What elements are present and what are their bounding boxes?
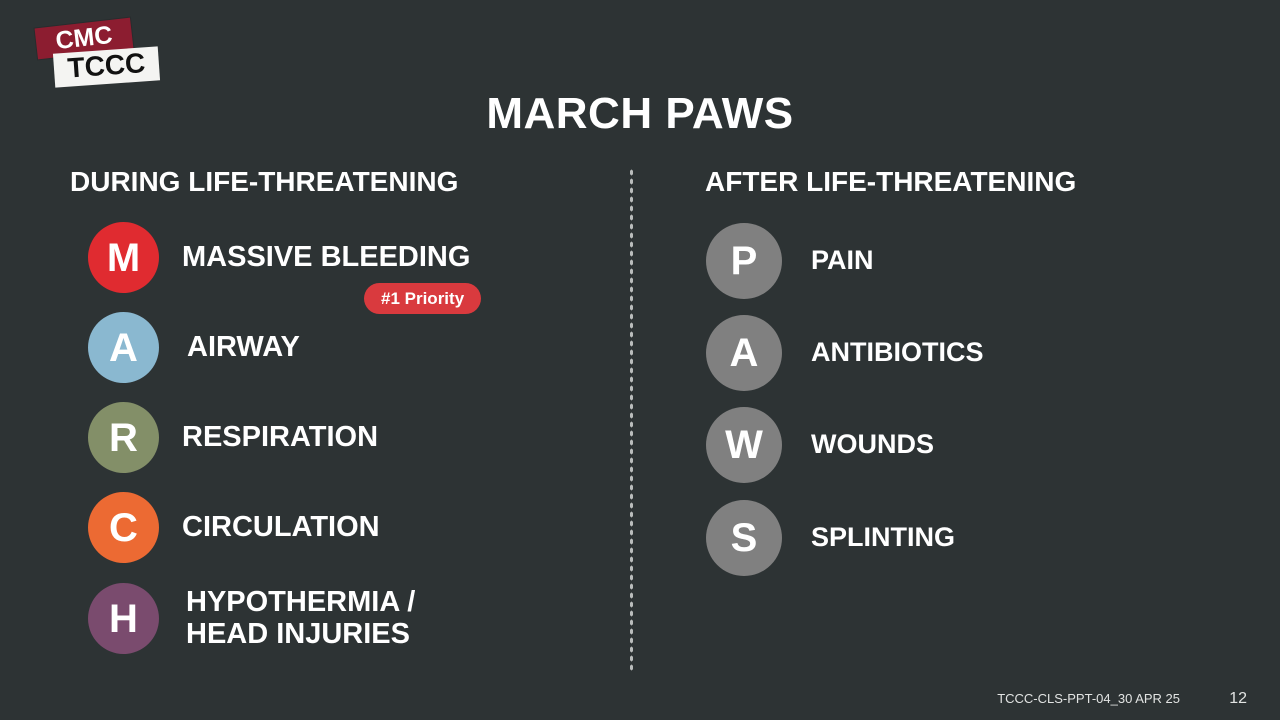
letter-bubble-r-text: R xyxy=(109,418,138,458)
letter-bubble-w: W xyxy=(706,407,782,483)
list-item-label: CIRCULATION xyxy=(182,512,380,543)
letter-bubble-p-text: P xyxy=(731,241,758,281)
list-item-label: RESPIRATION xyxy=(182,422,378,453)
list-item-respiration: R RESPIRATION xyxy=(88,402,378,473)
list-item-label: WOUNDS xyxy=(811,430,934,459)
list-item-label: SPLINTING xyxy=(811,523,955,552)
left-column-header: DURING LIFE-THREATENING xyxy=(70,168,458,196)
list-item-label: AIRWAY xyxy=(187,332,300,363)
list-item-label: HYPOTHERMIA / HEAD INJURIES xyxy=(186,587,415,650)
priority-badge: #1 Priority xyxy=(364,283,481,314)
letter-bubble-m: M xyxy=(88,222,159,293)
priority-badge-text: #1 Priority xyxy=(381,290,464,307)
slide-canvas: CMC TCCC MARCH PAWS DURING LIFE-THREATEN… xyxy=(0,0,1280,720)
right-column-header: AFTER LIFE-THREATENING xyxy=(705,168,1076,196)
letter-bubble-p: P xyxy=(706,223,782,299)
letter-bubble-s-text: S xyxy=(731,518,758,558)
footer-document-code: TCCC-CLS-PPT-04_30 APR 25 xyxy=(997,692,1180,705)
list-item-antibiotics: A ANTIBIOTICS xyxy=(706,315,984,391)
list-item-label: PAIN xyxy=(811,246,874,275)
letter-bubble-h-text: H xyxy=(109,599,138,639)
letter-bubble-m-text: M xyxy=(107,238,140,278)
list-item-hypothermia-head-injuries: H HYPOTHERMIA / HEAD INJURIES xyxy=(88,583,415,654)
column-divider xyxy=(629,168,634,672)
letter-bubble-w-text: W xyxy=(725,425,763,465)
list-item-wounds: W WOUNDS xyxy=(706,407,934,483)
logo-tccc-banner: TCCC xyxy=(53,46,160,87)
list-item-pain: P PAIN xyxy=(706,223,874,299)
letter-bubble-s: S xyxy=(706,500,782,576)
letter-bubble-c: C xyxy=(88,492,159,563)
cmc-tccc-logo: CMC TCCC xyxy=(30,18,180,98)
list-item-airway: A AIRWAY xyxy=(88,312,300,383)
logo-tccc-text: TCCC xyxy=(53,48,160,83)
list-item-splinting: S SPLINTING xyxy=(706,500,955,576)
letter-bubble-c-text: C xyxy=(109,508,138,548)
letter-bubble-a-text: A xyxy=(109,328,138,368)
letter-bubble-a2: A xyxy=(706,315,782,391)
list-item-label: MASSIVE BLEEDING xyxy=(182,242,470,273)
letter-bubble-a2-text: A xyxy=(730,333,759,373)
page-title: MARCH PAWS xyxy=(0,92,1280,136)
list-item-circulation: C CIRCULATION xyxy=(88,492,380,563)
letter-bubble-a: A xyxy=(88,312,159,383)
footer-page-number: 12 xyxy=(1229,691,1247,707)
letter-bubble-h: H xyxy=(88,583,159,654)
list-item-label: ANTIBIOTICS xyxy=(811,338,984,367)
letter-bubble-r: R xyxy=(88,402,159,473)
